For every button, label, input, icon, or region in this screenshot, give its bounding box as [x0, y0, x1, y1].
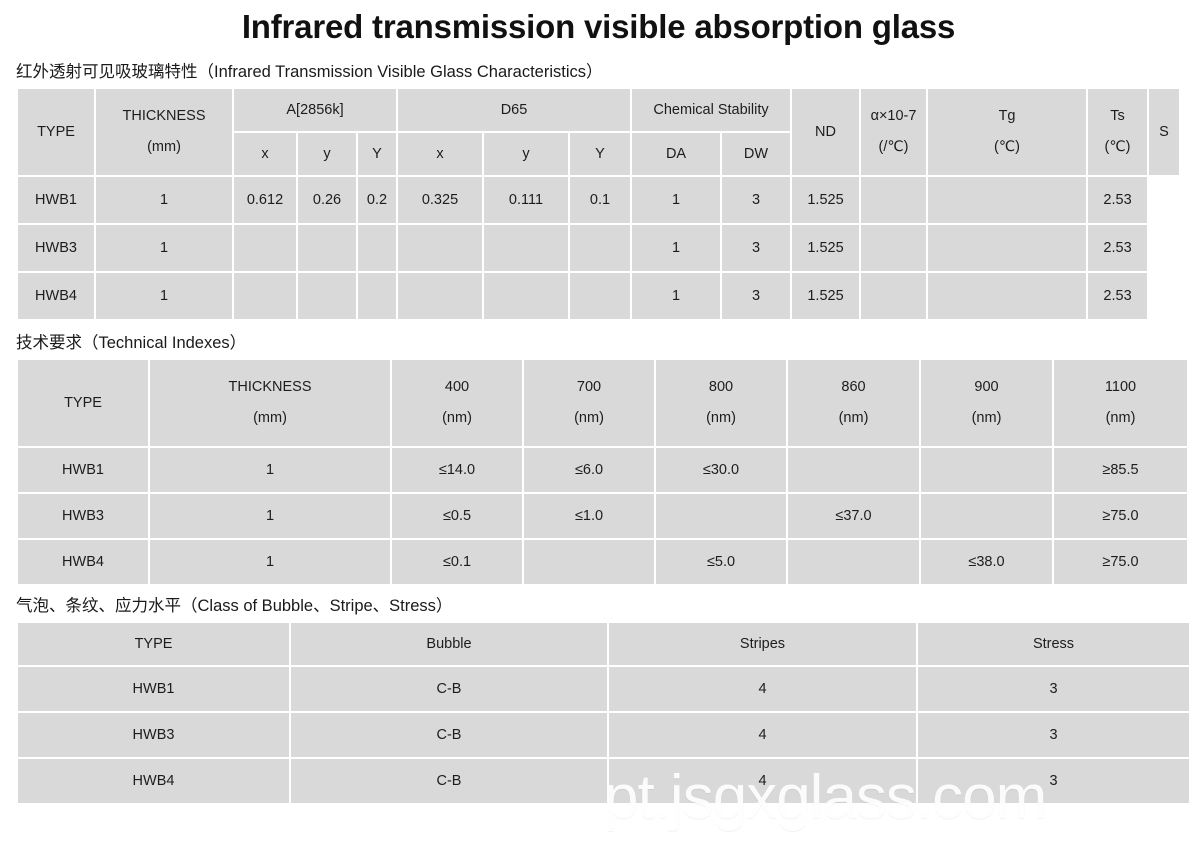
cell-860nm — [788, 448, 919, 492]
cell-type: HWB4 — [18, 540, 148, 584]
table-bubble-stripe-stress: TYPE Bubble Stripes Stress HWB1 C-B 4 3 … — [16, 621, 1191, 805]
table-technical-indexes: TYPE THICKNESS (mm) 400 (nm) 700 (nm) — [16, 358, 1189, 586]
cell-thickness: 1 — [150, 448, 390, 492]
table-characteristics: TYPE THICKNESS (mm) A[2856k] D65 Chemica… — [16, 87, 1181, 321]
cell-d-Y: 0.1 — [570, 177, 630, 223]
cell-s: 2.53 — [1088, 273, 1147, 319]
indexes-table-wrapper: TYPE THICKNESS (mm) 400 (nm) 700 (nm) — [0, 358, 1197, 586]
cell-a-y — [298, 273, 356, 319]
cell-type: HWB1 — [18, 667, 289, 711]
table-row: HWB3 C-B 4 3 — [18, 713, 1189, 757]
cell-alpha — [861, 177, 926, 223]
header-400nm: 400 (nm) — [392, 360, 522, 446]
header-thickness-label: THICKNESS — [153, 379, 387, 396]
header-860nm-value: 860 — [791, 379, 916, 396]
cell-type: HWB4 — [18, 759, 289, 803]
cell-da: 1 — [632, 225, 720, 271]
cell-400nm: ≤14.0 — [392, 448, 522, 492]
header-thickness-unit: (mm) — [99, 139, 229, 156]
header-900nm-unit: (nm) — [924, 410, 1049, 427]
cell-nd: 1.525 — [792, 273, 859, 319]
header-type: TYPE — [18, 89, 94, 175]
cell-stripes: 4 — [609, 759, 916, 803]
cell-alpha — [861, 225, 926, 271]
table-row: HWB3 1 1 3 1.525 2.53 — [18, 225, 1179, 271]
table-header-row: TYPE THICKNESS (mm) 400 (nm) 700 (nm) — [18, 360, 1187, 446]
header-1100nm-unit: (nm) — [1057, 410, 1184, 427]
cell-tg — [928, 225, 1086, 271]
header-ts-label: Ts — [1091, 108, 1144, 125]
cell-700nm — [524, 540, 654, 584]
cell-type: HWB3 — [18, 494, 148, 538]
cell-bubble: C-B — [291, 759, 607, 803]
cell-d-y: 0.111 — [484, 177, 568, 223]
cell-thickness: 1 — [96, 225, 232, 271]
header-700nm-value: 700 — [527, 379, 651, 396]
header-da: DA — [632, 133, 720, 175]
header-chemical-stability: Chemical Stability — [632, 89, 790, 131]
header-900nm: 900 (nm) — [921, 360, 1052, 446]
cell-a-Y — [358, 273, 396, 319]
header-400nm-unit: (nm) — [395, 410, 519, 427]
cell-stripes: 4 — [609, 667, 916, 711]
header-1100nm: 1100 (nm) — [1054, 360, 1187, 446]
header-1100nm-value: 1100 — [1057, 379, 1184, 396]
cell-1100nm: ≥85.5 — [1054, 448, 1187, 492]
header-800nm-unit: (nm) — [659, 410, 783, 427]
cell-a-x — [234, 273, 296, 319]
header-stress: Stress — [918, 623, 1189, 665]
cell-1100nm: ≥75.0 — [1054, 540, 1187, 584]
table-header-row-1: TYPE THICKNESS (mm) A[2856k] D65 Chemica… — [18, 89, 1179, 131]
header-700nm: 700 (nm) — [524, 360, 654, 446]
cell-1100nm: ≥75.0 — [1054, 494, 1187, 538]
header-stripes: Stripes — [609, 623, 916, 665]
header-thickness: THICKNESS (mm) — [150, 360, 390, 446]
header-alpha-unit: (/℃) — [864, 139, 923, 156]
cell-nd: 1.525 — [792, 225, 859, 271]
header-alpha-label: α×10-7 — [864, 108, 923, 125]
cell-d-x — [398, 273, 482, 319]
table-header-row: TYPE Bubble Stripes Stress — [18, 623, 1189, 665]
header-860nm: 860 (nm) — [788, 360, 919, 446]
cell-900nm: ≤38.0 — [921, 540, 1052, 584]
cell-a-Y: 0.2 — [358, 177, 396, 223]
cell-dw: 3 — [722, 177, 790, 223]
cell-700nm: ≤6.0 — [524, 448, 654, 492]
cell-d-y — [484, 225, 568, 271]
header-d-y: y — [484, 133, 568, 175]
cell-dw: 3 — [722, 225, 790, 271]
header-type: TYPE — [18, 360, 148, 446]
header-ts-unit: (℃) — [1091, 139, 1144, 156]
cell-type: HWB4 — [18, 273, 94, 319]
cell-type: HWB1 — [18, 448, 148, 492]
cell-860nm — [788, 540, 919, 584]
header-s: S — [1149, 89, 1179, 175]
cell-a-Y — [358, 225, 396, 271]
cell-a-y — [298, 225, 356, 271]
cell-thickness: 1 — [150, 494, 390, 538]
cell-type: HWB3 — [18, 713, 289, 757]
cell-tg — [928, 273, 1086, 319]
cell-stress: 3 — [918, 759, 1189, 803]
cell-thickness: 1 — [96, 273, 232, 319]
cell-stress: 3 — [918, 713, 1189, 757]
cell-700nm: ≤1.0 — [524, 494, 654, 538]
cell-thickness: 1 — [96, 177, 232, 223]
cell-nd: 1.525 — [792, 177, 859, 223]
cell-800nm: ≤5.0 — [656, 540, 786, 584]
header-dw: DW — [722, 133, 790, 175]
cell-d-y — [484, 273, 568, 319]
header-bubble: Bubble — [291, 623, 607, 665]
cell-a-x — [234, 225, 296, 271]
cell-s: 2.53 — [1088, 225, 1147, 271]
cell-thickness: 1 — [150, 540, 390, 584]
cell-800nm: ≤30.0 — [656, 448, 786, 492]
cell-860nm: ≤37.0 — [788, 494, 919, 538]
header-900nm-value: 900 — [924, 379, 1049, 396]
header-tg-label: Tg — [931, 108, 1083, 125]
table-row: HWB1 1 ≤14.0 ≤6.0 ≤30.0 ≥85.5 — [18, 448, 1187, 492]
section-caption-characteristics: 红外透射可见吸玻璃特性（Infrared Transmission Visibl… — [0, 62, 1197, 82]
header-d-x: x — [398, 133, 482, 175]
header-700nm-unit: (nm) — [527, 410, 651, 427]
header-a2856k: A[2856k] — [234, 89, 396, 131]
cell-400nm: ≤0.1 — [392, 540, 522, 584]
header-tg-unit: (℃) — [931, 139, 1083, 156]
cell-s: 2.53 — [1088, 177, 1147, 223]
header-d-Y: Y — [570, 133, 630, 175]
header-tg: Tg (℃) — [928, 89, 1086, 175]
cell-900nm — [921, 448, 1052, 492]
characteristics-table-wrapper: TYPE THICKNESS (mm) A[2856k] D65 Chemica… — [0, 87, 1197, 321]
header-800nm-value: 800 — [659, 379, 783, 396]
section-caption-bubble-stripe-stress: 气泡、条纹、应力水平（Class of Bubble、Stripe、Stress… — [0, 596, 1197, 616]
header-thickness-unit: (mm) — [153, 410, 387, 427]
table-row: HWB1 1 0.612 0.26 0.2 0.325 0.111 0.1 1 … — [18, 177, 1179, 223]
cell-type: HWB1 — [18, 177, 94, 223]
table-row: HWB1 C-B 4 3 — [18, 667, 1189, 711]
table-row: HWB4 1 1 3 1.525 2.53 — [18, 273, 1179, 319]
cell-tg — [928, 177, 1086, 223]
cell-d-Y — [570, 225, 630, 271]
header-a-x: x — [234, 133, 296, 175]
cell-alpha — [861, 273, 926, 319]
header-d65: D65 — [398, 89, 630, 131]
header-thickness: THICKNESS (mm) — [96, 89, 232, 175]
cell-d-x: 0.325 — [398, 177, 482, 223]
header-a-Y: Y — [358, 133, 396, 175]
header-a-y: y — [298, 133, 356, 175]
header-thickness-label: THICKNESS — [99, 108, 229, 125]
header-ts: Ts (℃) — [1088, 89, 1147, 175]
cell-900nm — [921, 494, 1052, 538]
section-caption-technical-indexes: 技术要求（Technical Indexes） — [0, 333, 1197, 353]
cell-dw: 3 — [722, 273, 790, 319]
cell-da: 1 — [632, 177, 720, 223]
cell-400nm: ≤0.5 — [392, 494, 522, 538]
cell-d-x — [398, 225, 482, 271]
header-nd: ND — [792, 89, 859, 175]
cell-d-Y — [570, 273, 630, 319]
header-800nm: 800 (nm) — [656, 360, 786, 446]
table-row: HWB4 C-B 4 3 — [18, 759, 1189, 803]
cell-bubble: C-B — [291, 713, 607, 757]
cell-800nm — [656, 494, 786, 538]
table-row: HWB4 1 ≤0.1 ≤5.0 ≤38.0 ≥75.0 — [18, 540, 1187, 584]
cell-a-x: 0.612 — [234, 177, 296, 223]
bubble-table-wrapper: TYPE Bubble Stripes Stress HWB1 C-B 4 3 … — [0, 621, 1197, 805]
page-title: Infrared transmission visible absorption… — [0, 0, 1197, 48]
cell-bubble: C-B — [291, 667, 607, 711]
header-alpha: α×10-7 (/℃) — [861, 89, 926, 175]
cell-type: HWB3 — [18, 225, 94, 271]
cell-stress: 3 — [918, 667, 1189, 711]
header-400nm-value: 400 — [395, 379, 519, 396]
header-type: TYPE — [18, 623, 289, 665]
cell-da: 1 — [632, 273, 720, 319]
cell-a-y: 0.26 — [298, 177, 356, 223]
header-860nm-unit: (nm) — [791, 410, 916, 427]
cell-stripes: 4 — [609, 713, 916, 757]
table-row: HWB3 1 ≤0.5 ≤1.0 ≤37.0 ≥75.0 — [18, 494, 1187, 538]
